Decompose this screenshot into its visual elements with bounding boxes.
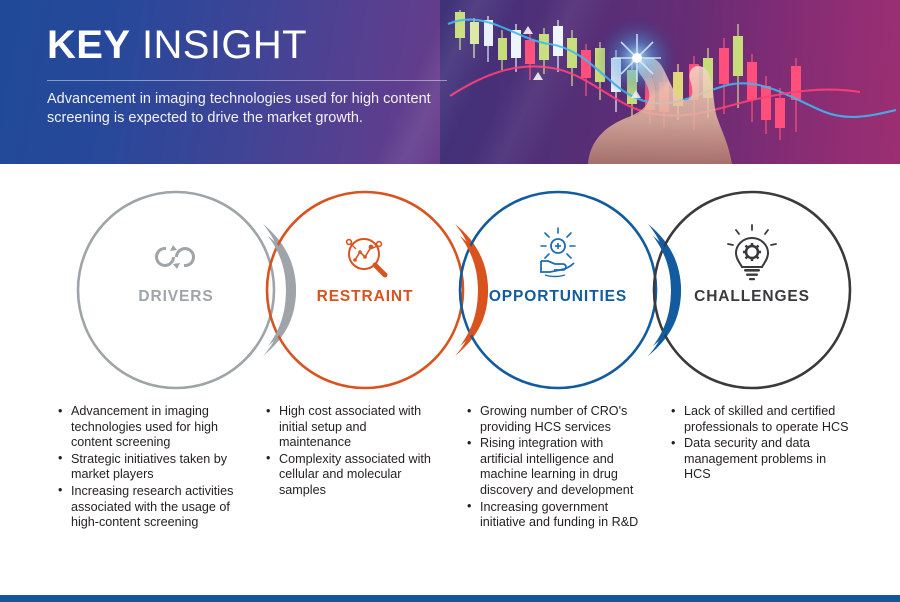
page-title-strong: KEY	[47, 23, 130, 67]
list-item: Lack of skilled and certified profession…	[670, 404, 850, 435]
header-banner: KEY INSIGHT Advancement in imaging techn…	[0, 0, 900, 164]
list-item: Increasing research activities associate…	[57, 484, 237, 531]
page-title-rest: INSIGHT	[130, 23, 307, 67]
list-item: Advancement in imaging technologies used…	[57, 404, 237, 451]
hand-holding-idea-icon	[541, 228, 575, 277]
list-item: Growing number of CRO's providing HCS se…	[466, 404, 641, 435]
list-item: Complexity associated with cellular and …	[265, 452, 440, 499]
header-subtitle: Advancement in imaging technologies used…	[47, 90, 455, 128]
column-challenges: Lack of skilled and certified profession…	[670, 404, 850, 484]
stock-chart-artwork	[440, 0, 900, 164]
bullet-list-challenges: Lack of skilled and certified profession…	[670, 404, 850, 483]
bullet-columns: Advancement in imaging technologies used…	[0, 404, 900, 594]
key-insight-infographic: KEY INSIGHT Advancement in imaging techn…	[0, 0, 900, 602]
list-item: Rising integration with artificial intel…	[466, 436, 641, 498]
bullet-list-opportunities: Growing number of CRO's providing HCS se…	[466, 404, 641, 531]
bullet-list-drivers: Advancement in imaging technologies used…	[57, 404, 237, 531]
circle-label-challenges: CHALLENGES	[694, 288, 810, 306]
lightbulb-gear-icon	[728, 225, 776, 280]
column-opportunities: Growing number of CRO's providing HCS se…	[466, 404, 641, 532]
column-restraint: High cost associated with initial setup …	[265, 404, 440, 500]
list-item: High cost associated with initial setup …	[265, 404, 440, 451]
page-title: KEY INSIGHT	[47, 22, 462, 68]
circle-label-restraint: RESTRAINT	[317, 288, 414, 306]
magnifier-molecule-icon	[347, 239, 385, 275]
footer-accent-bar	[0, 595, 900, 602]
bullet-list-restraint: High cost associated with initial setup …	[265, 404, 440, 499]
list-item: Increasing government initiative and fun…	[466, 500, 641, 531]
header-text-block: KEY INSIGHT Advancement in imaging techn…	[47, 22, 462, 128]
column-drivers: Advancement in imaging technologies used…	[57, 404, 237, 532]
circle-label-opportunities: OPPORTUNITIES	[489, 288, 627, 306]
circle-label-drivers: DRIVERS	[138, 288, 213, 306]
title-divider	[47, 80, 447, 81]
list-item: Data security and data management proble…	[670, 436, 850, 483]
list-item: Strategic initiatives taken by market pl…	[57, 452, 237, 483]
